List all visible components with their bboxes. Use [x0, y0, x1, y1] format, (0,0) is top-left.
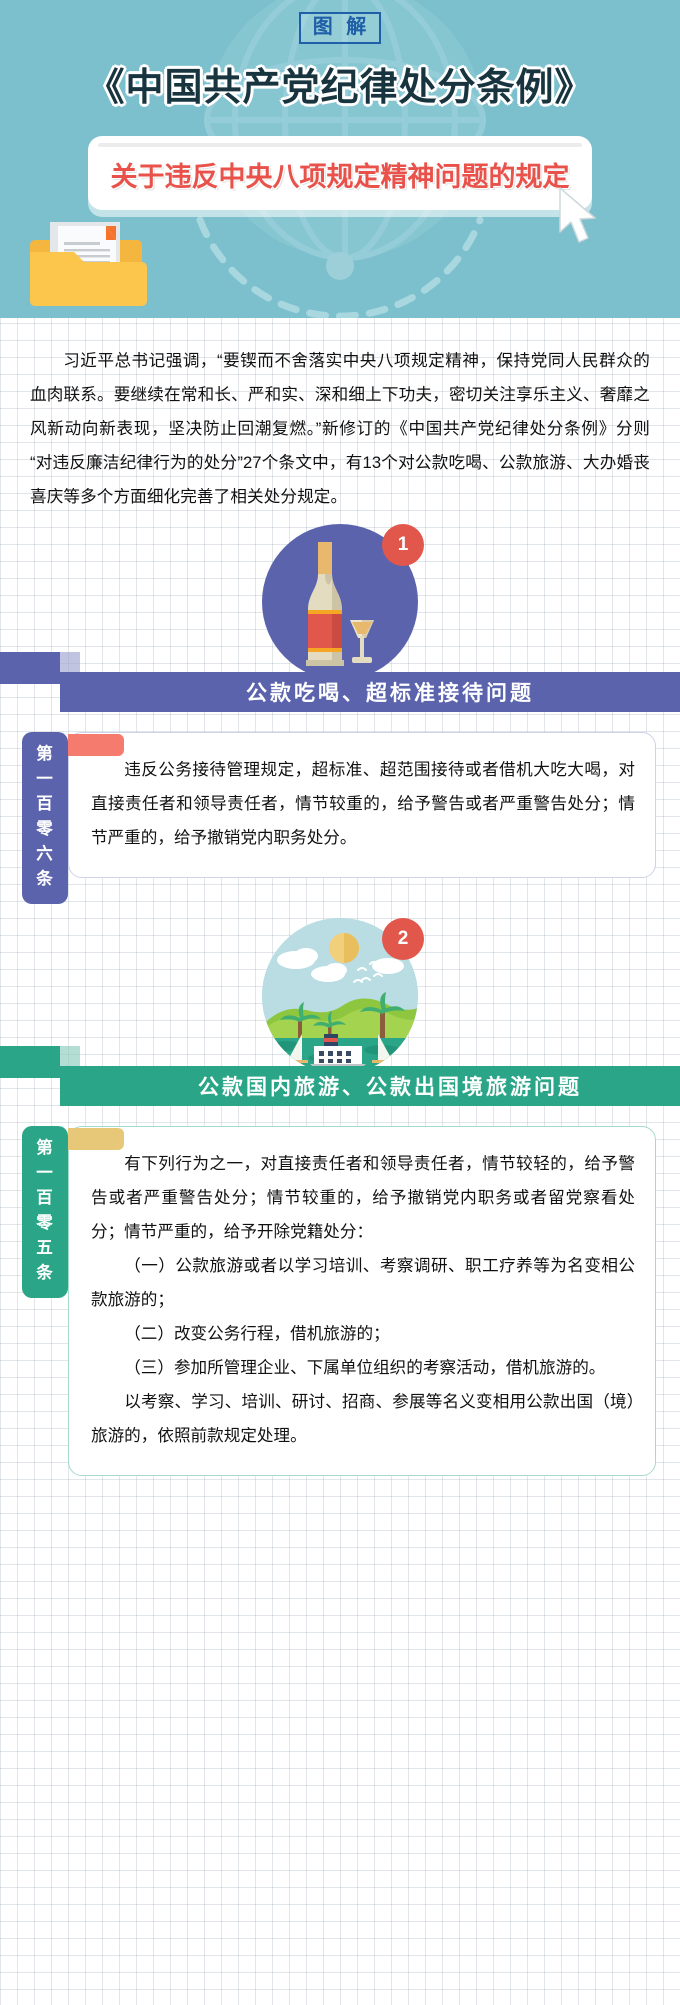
intro-paragraph: 习近平总书记强调，“要锲而不舍落实中央八项规定精神，保持党同人民群众的血肉联系。…	[0, 318, 680, 524]
section-2-banner: 公款国内旅游、公款出国境旅游问题	[0, 1058, 680, 1104]
section-2-banner-label: 公款国内旅游、公款出国境旅游问题	[158, 1071, 582, 1101]
section-1-banner-label: 公款吃喝、超标准接待问题	[206, 677, 534, 707]
cursor-arrow-icon	[556, 186, 602, 253]
infographic-page: 图 解 《中国共产党纪律处分条例》 关于违反中央八项规定精神问题的规定	[0, 0, 680, 2005]
tujie-tag-label: 图 解	[299, 12, 382, 44]
section-number-badge: 2	[382, 918, 424, 960]
tujie-tag: 图 解	[0, 12, 680, 44]
page-header: 图 解 《中国共产党纪律处分条例》 关于违反中央八项规定精神问题的规定	[0, 0, 680, 318]
article-105-label: 第一百零五条	[22, 1126, 68, 1298]
section-1-illustration-wrap: 1	[0, 524, 680, 664]
article-106-paragraph-1: 违反公务接待管理规定，超标准、超范围接待或者借机大吃大喝，对直接责任者和领导责任…	[91, 753, 635, 855]
article-106-body: 违反公务接待管理规定，超标准、超范围接待或者借机大吃大喝，对直接责任者和领导责任…	[68, 732, 656, 878]
spacer	[0, 1476, 680, 1504]
article-105-paragraph-1: 有下列行为之一，对直接责任者和领导责任者，情节较轻的，给予警告或者严重警告处分；…	[91, 1147, 635, 1249]
section-number-badge: 1	[382, 524, 424, 566]
article-105-card: 第一百零五条 有下列行为之一，对直接责任者和领导责任者，情节较轻的，给予警告或者…	[22, 1126, 656, 1476]
spacer	[0, 878, 680, 918]
article-106-card: 第一百零六条 违反公务接待管理规定，超标准、超范围接待或者借机大吃大喝，对直接责…	[22, 732, 656, 878]
folder-documents-icon	[28, 218, 148, 318]
article-105-body: 有下列行为之一，对直接责任者和领导责任者，情节较轻的，给予警告或者严重警告处分；…	[68, 1126, 656, 1476]
section-public-funded-dining: 1 公款吃喝、超标准接待问题 第一百零六条 违反公务接待管理规定，超标准、超范围…	[0, 524, 680, 918]
article-106-chip	[68, 734, 124, 756]
page-subtitle: 关于违反中央八项规定精神问题的规定	[88, 155, 592, 194]
ribbon-bar: 公款吃喝、超标准接待问题	[60, 672, 680, 712]
section-2-illustration-wrap: 2	[0, 918, 680, 1058]
ribbon-tail	[0, 1046, 60, 1078]
article-105-paragraph-2: （一）公款旅游或者以学习培训、考察调研、职工疗养等为名变相公款旅游的；	[91, 1249, 635, 1317]
page-title: 《中国共产党纪律处分条例》	[0, 56, 680, 111]
article-105-paragraph-5: 以考察、学习、培训、研讨、招商、参展等名义变相用公款出国（境）旅游的，依照前款规…	[91, 1385, 635, 1453]
article-105-chip	[68, 1128, 124, 1150]
ribbon-bar: 公款国内旅游、公款出国境旅游问题	[60, 1066, 680, 1106]
section-1-banner: 公款吃喝、超标准接待问题	[0, 664, 680, 710]
ribbon-tail	[0, 652, 60, 684]
article-106-label: 第一百零六条	[22, 732, 68, 904]
subtitle-plate: 关于违反中央八项规定精神问题的规定	[88, 136, 592, 210]
article-105-paragraph-4: （三）参加所管理企业、下属单位组织的考察活动，借机旅游的。	[91, 1351, 635, 1385]
article-105-paragraph-3: （二）改变公务行程，借机旅游的；	[91, 1317, 635, 1351]
section-public-funded-travel: 2 公款国内旅游、公款出国境旅游问题 第一百零五条 有下列行为之一，对直接责任者…	[0, 918, 680, 1504]
